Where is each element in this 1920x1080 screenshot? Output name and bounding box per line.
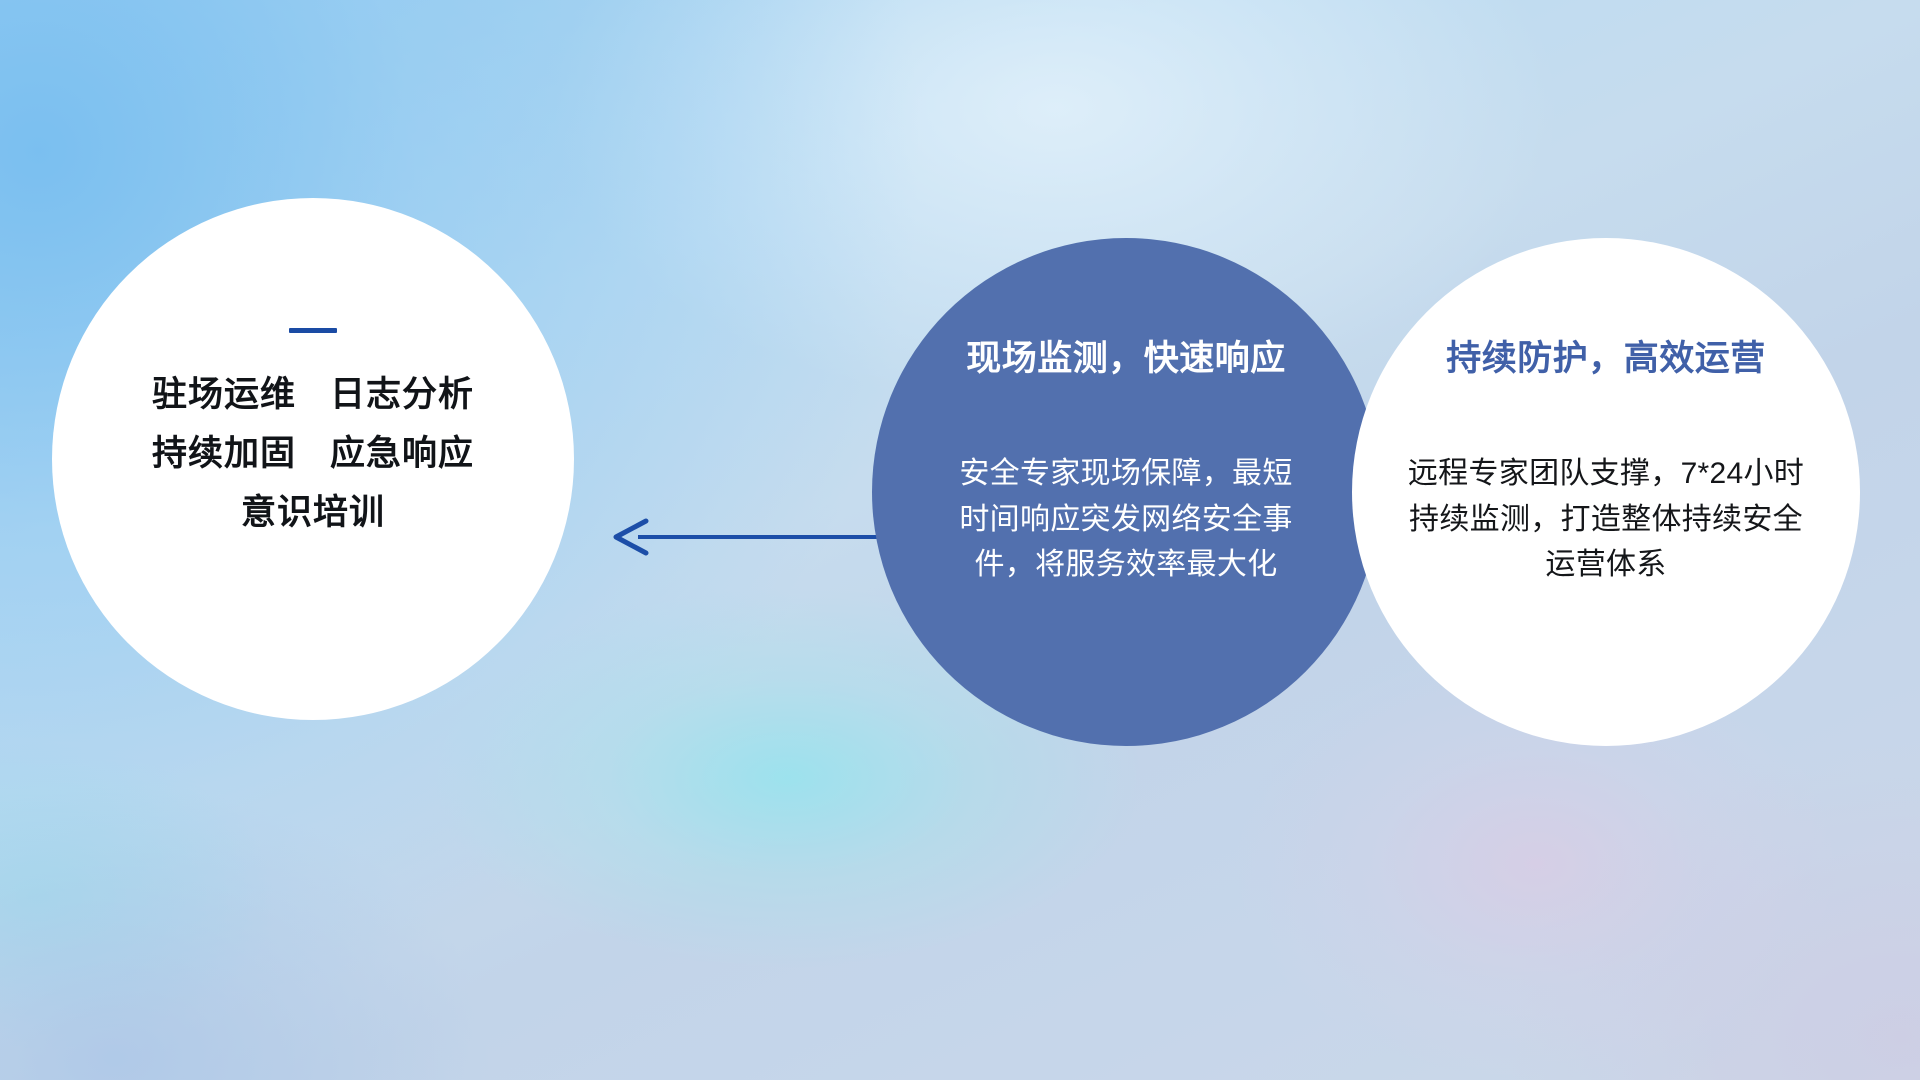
blue-dash-divider-icon (289, 328, 337, 333)
onsite-monitoring-body: 安全专家现场保障，最短时间响应突发网络安全事件，将服务效率最大化 (956, 451, 1296, 588)
capability-item: 日志分析 (330, 377, 474, 412)
capability-item: 驻场运维 (152, 377, 296, 412)
onsite-monitoring-circle: 现场监测，快速响应 安全专家现场保障，最短时间响应突发网络安全事件，将服务效率最… (872, 238, 1380, 746)
slide-canvas: 驻场运维 日志分析 持续加固 应急响应 意识培训 现场监测，快速响应 安全专家现… (0, 0, 1920, 1080)
capability-item: 持续加固 (152, 436, 296, 471)
capability-list: 驻场运维 日志分析 持续加固 应急响应 意识培训 (152, 377, 474, 530)
capability-item: 应急响应 (330, 436, 474, 471)
capability-row: 驻场运维 日志分析 (152, 377, 474, 412)
onsite-monitoring-title: 现场监测，快速响应 (966, 330, 1286, 381)
capability-item: 意识培训 (241, 495, 385, 530)
left-capability-circle: 驻场运维 日志分析 持续加固 应急响应 意识培训 (52, 198, 574, 720)
capability-row: 意识培训 (241, 495, 385, 530)
flow-arrow (608, 515, 908, 559)
continuous-protection-body: 远程专家团队支撑，7*24小时持续监测，打造整体持续安全运营体系 (1406, 451, 1806, 588)
capability-row: 持续加固 应急响应 (152, 436, 474, 471)
continuous-protection-circle: 持续防护，高效运营 远程专家团队支撑，7*24小时持续监测，打造整体持续安全运营… (1352, 238, 1860, 746)
continuous-protection-title: 持续防护，高效运营 (1446, 330, 1766, 381)
arrow-left-icon (608, 515, 908, 559)
